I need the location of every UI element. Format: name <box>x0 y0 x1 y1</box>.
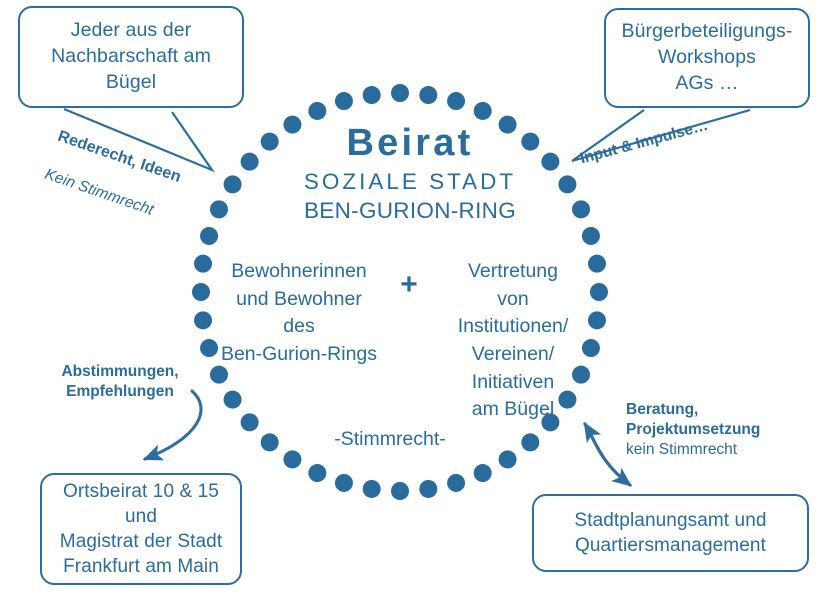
label-input-impulse: Input & Impulse… <box>578 106 747 169</box>
ring-dot <box>308 464 326 482</box>
bubble-workshops: Bürgerbeteiligungs- Workshops AGs … <box>604 8 810 108</box>
page-subtitle-1: SOZIALE STADT <box>250 167 570 197</box>
ring-dot <box>582 227 600 245</box>
label-abstimmungen: Abstimmungen, Empfehlungen <box>40 362 200 402</box>
ring-dot <box>308 102 326 120</box>
arrow-beratung-down <box>585 424 630 485</box>
label-beratung-bold: Beratung, Projektumsetzung <box>626 400 806 440</box>
ring-dot <box>261 433 279 451</box>
ring-dot <box>283 450 301 468</box>
ring-dot <box>499 450 517 468</box>
ring-dot <box>521 433 539 451</box>
ring-dot <box>419 480 437 498</box>
ring-dot <box>391 482 409 500</box>
ring-dot <box>363 86 381 104</box>
voting-rights-note: -Stimmrecht- <box>280 428 500 451</box>
label-rederecht: Rederecht, Ideen Kein Stimmrecht <box>36 108 229 258</box>
ring-dot <box>192 283 210 301</box>
ring-dot <box>474 102 492 120</box>
ring-dot <box>391 84 409 102</box>
box-stadtplanungsamt: Stadtplanungsamt und Quartiersmanagement <box>532 494 809 572</box>
ring-dot <box>335 474 353 492</box>
bubble-neighbourhood: Jeder aus der Nachbarschaft am Bügel <box>18 6 244 108</box>
center-heading-group: Beirat SOZIALE STADT BEN-GURION-RING <box>250 124 570 224</box>
ring-dot <box>447 92 465 110</box>
ring-dot <box>447 474 465 492</box>
membership-columns: Bewohnerinnen und Bewohner des Ben-Gurio… <box>210 258 596 424</box>
ring-dot <box>572 200 590 218</box>
ring-dot <box>224 175 242 193</box>
arrow-beratung-up <box>585 424 630 485</box>
page-title: Beirat <box>250 124 570 164</box>
ring-dot <box>363 480 381 498</box>
box-ortsbeirat-magistrat: Ortsbeirat 10 & 15 und Magistrat der Sta… <box>40 473 242 585</box>
ring-dot <box>419 86 437 104</box>
members-institutions: Vertretung von Institutionen/ Vereinen/ … <box>431 258 595 424</box>
plus-icon: + <box>387 258 431 300</box>
ring-dot <box>474 464 492 482</box>
label-beratung: Beratung, Projektumsetzung kein Stimmrec… <box>626 400 806 459</box>
page-subtitle-2: BEN-GURION-RING <box>250 197 570 224</box>
diagram-canvas: Beirat SOZIALE STADT BEN-GURION-RING Bew… <box>0 0 820 600</box>
members-residents: Bewohnerinnen und Bewohner des Ben-Gurio… <box>211 258 387 369</box>
label-beratung-regular: kein Stimmrecht <box>626 440 806 460</box>
ring-dot <box>335 92 353 110</box>
